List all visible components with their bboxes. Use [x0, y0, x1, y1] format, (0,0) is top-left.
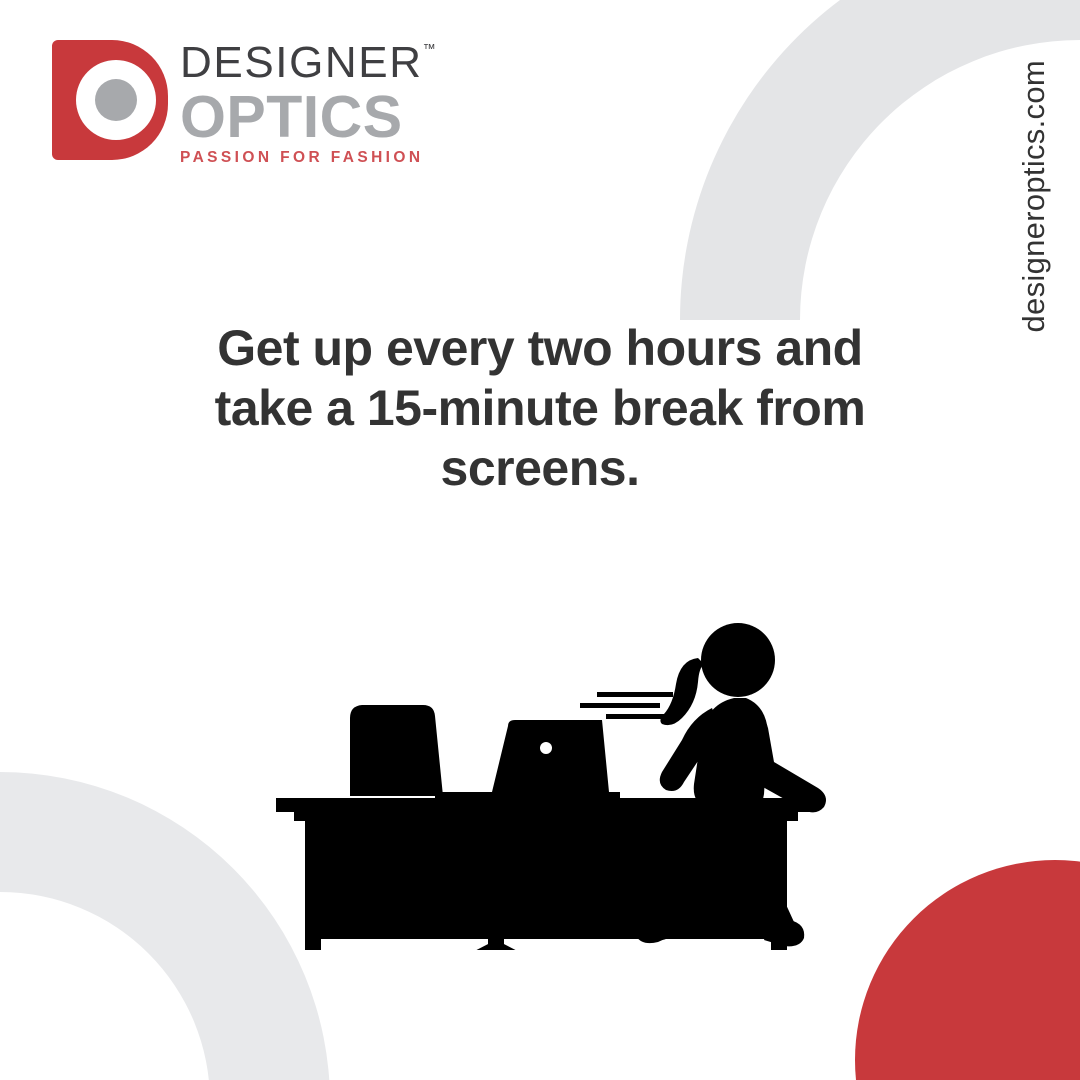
desk-leg-left [305, 821, 321, 950]
logo-mark-d-shape [52, 40, 168, 160]
website-url-vertical[interactable]: designeroptics.com [1016, 60, 1052, 332]
laptop-right-base [435, 792, 620, 798]
brand-logo[interactable]: DESIGNER™ OPTICS PASSION FOR FASHION [52, 38, 472, 173]
trademark-icon: ™ [423, 42, 436, 55]
laptop-logo-dot-icon [540, 742, 552, 754]
headline-line-1: Get up every two hours and [150, 318, 930, 378]
logo-optics-text: OPTICS [180, 88, 480, 146]
chair-arm-left [430, 942, 498, 950]
laptop-left-icon [350, 705, 443, 796]
chair-arm-right [494, 942, 562, 950]
headline-text: Get up every two hours and take a 15-min… [150, 318, 930, 498]
social-post-canvas: DESIGNER™ OPTICS PASSION FOR FASHION des… [0, 0, 1080, 1080]
logo-tagline-text: PASSION FOR FASHION [180, 148, 480, 168]
headline-line-3: screens. [150, 438, 930, 498]
red-circle-bottom-right [855, 860, 1080, 1080]
person-ponytail [660, 658, 704, 725]
laptop-right-icon [435, 720, 620, 798]
logo-designer-label: DESIGNER [180, 38, 423, 87]
person-head [701, 623, 775, 697]
illustration-person-leaving-desk [270, 600, 830, 950]
headline-line-2: take a 15-minute break from [150, 378, 930, 438]
logo-wordmark: DESIGNER™ OPTICS PASSION FOR FASHION [180, 38, 480, 168]
logo-mark-gray-circle [95, 79, 137, 121]
logo-designer-text: DESIGNER™ [180, 38, 480, 88]
